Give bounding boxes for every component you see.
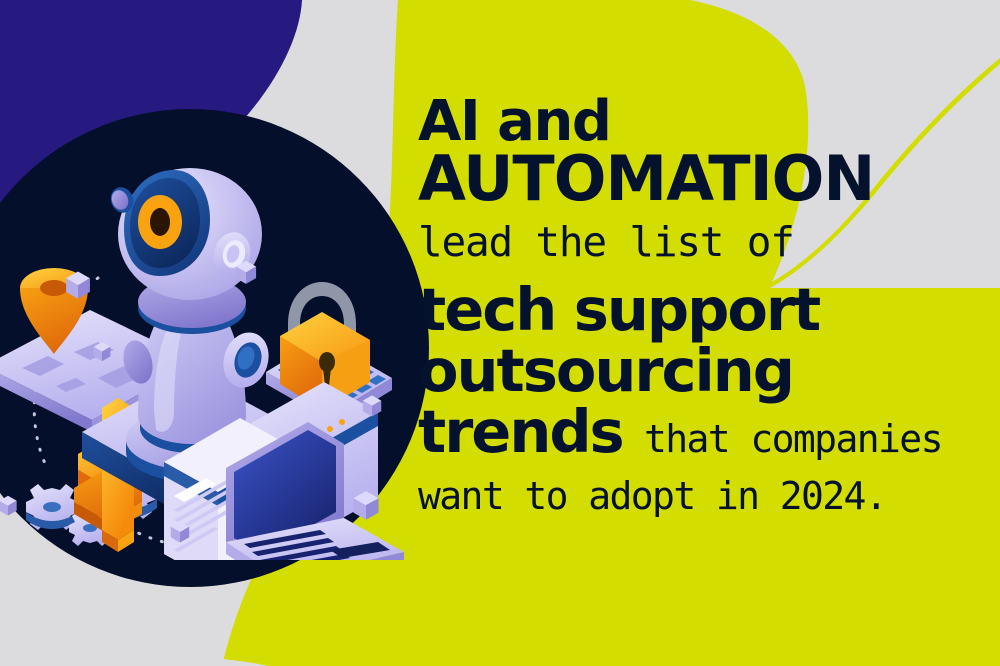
banner-root: AI and AUTOMATION lead the list of tech …	[0, 0, 1000, 666]
body-line-3-bold: trends	[418, 397, 623, 466]
illustration-svg	[0, 110, 408, 560]
body-line-3: trends that companies	[418, 402, 993, 461]
headline-line-2: AUTOMATION	[418, 150, 993, 207]
body-line-2: outsourcing	[418, 341, 993, 400]
body-line-4: want to adopt in 2024.	[418, 477, 993, 517]
headline-copy-block: AI and AUTOMATION lead the list of tech …	[418, 96, 993, 516]
subhead-line-1: lead the list of	[418, 221, 993, 264]
headline-line-1: AI and	[418, 96, 993, 148]
ai-automation-illustration	[0, 110, 408, 560]
body-line-1: tech support	[418, 280, 993, 339]
body-line-3-thin: that companies	[623, 417, 942, 461]
